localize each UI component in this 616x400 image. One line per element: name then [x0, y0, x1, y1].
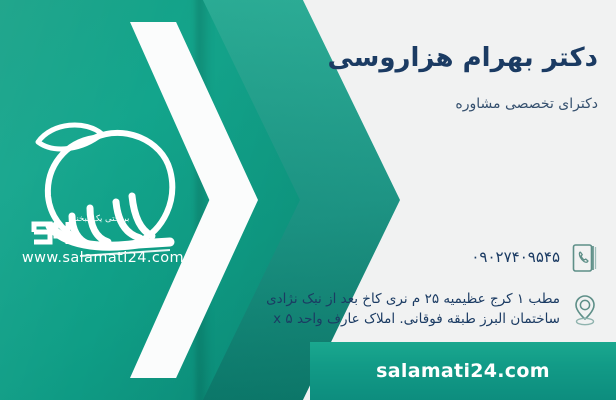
phone-row[interactable]: ۰۹۰۲۷۴۰۹۵۴۵ — [202, 240, 602, 276]
logo-tagline: براحتی یک لبخند — [72, 214, 129, 224]
address-line-2: ساختمان البرز طبقه فوقانی. املاک عارف وا… — [202, 310, 560, 330]
footer-website-text: salamati24.com — [376, 360, 550, 382]
business-card: براحتی یک لبخند www.salamati24.com دکتر … — [0, 0, 616, 400]
phone-book-icon — [568, 240, 602, 276]
address-line-1: مطب ۱ کرج عظیمیه ۲۵ م نری کاخ بعد از نبک… — [202, 290, 560, 310]
doctor-name: دکتر بهرام هزاروسی — [238, 42, 598, 75]
map-pin-icon — [568, 292, 602, 328]
logo-website-url: www.salamati24.com — [14, 250, 192, 266]
salamati24-logo: براحتی یک لبخند — [20, 104, 206, 274]
contact-block: ۰۹۰۲۷۴۰۹۵۴۵ مطب ۱ کرج عظیمیه ۲۵ م نری کا… — [202, 240, 602, 343]
logo-apple-mark — [20, 104, 206, 274]
address-text: مطب ۱ کرج عظیمیه ۲۵ م نری کاخ بعد از نبک… — [202, 290, 560, 329]
phone-number: ۰۹۰۲۷۴۰۹۵۴۵ — [202, 247, 560, 269]
address-row[interactable]: مطب ۱ کرج عظیمیه ۲۵ م نری کاخ بعد از نبک… — [202, 290, 602, 329]
footer-website-bar[interactable]: salamati24.com — [310, 342, 616, 400]
doctor-specialty: دکترای تخصصی مشاوره — [238, 96, 598, 112]
